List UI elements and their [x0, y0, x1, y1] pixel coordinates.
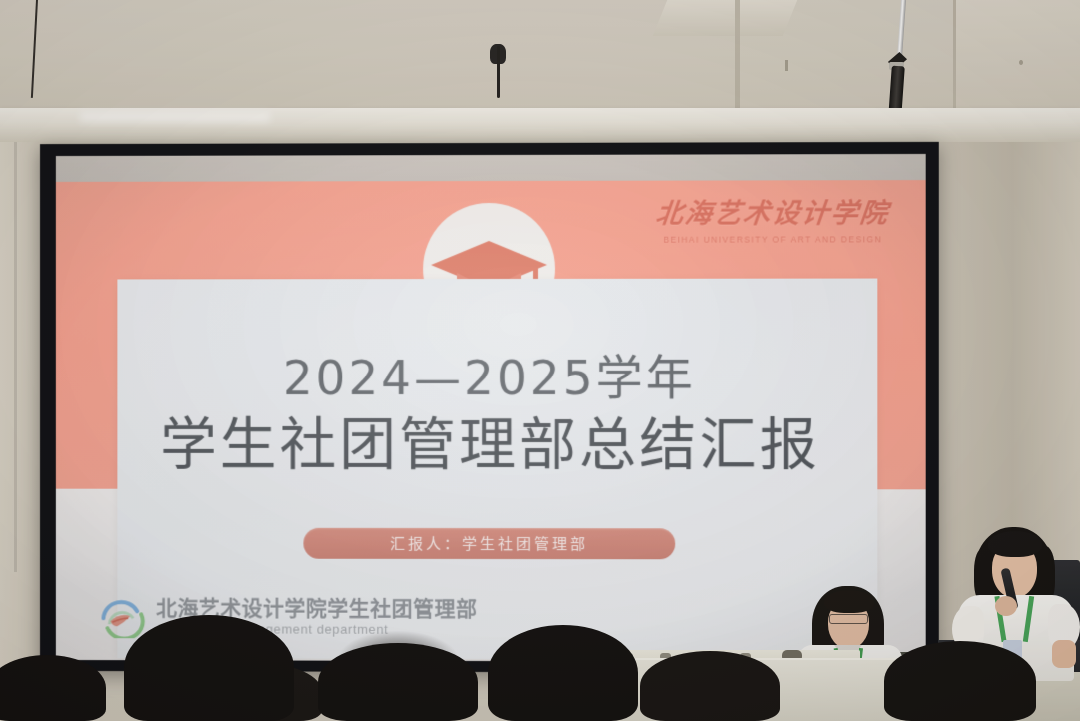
slide-title-line-1: 2024—2025学年 [56, 351, 926, 407]
presentation-slide: 北海艺术设计学院 BEIHAI UNIVERSITY OF ART AND DE… [56, 154, 926, 662]
audience-head [124, 615, 294, 721]
ceiling-beam-edge [735, 0, 740, 122]
audience-head [488, 625, 638, 721]
audience-head [0, 655, 106, 721]
projection-screen: 北海艺术设计学院 BEIHAI UNIVERSITY OF ART AND DE… [40, 142, 939, 673]
presenter-arm-right [1052, 640, 1076, 668]
slide-title-line-2: 学生社团管理部总结汇报 [56, 410, 926, 482]
housing-glare [80, 112, 270, 122]
presenter-pill-text: 汇报人：学生社团管理部 [390, 533, 588, 554]
university-logo: 北海艺术设计学院 BEIHAI UNIVERSITY OF ART AND DE… [638, 191, 907, 254]
slide-title-block: 2024—2025学年 学生社团管理部总结汇报 [56, 351, 926, 482]
audience-head [884, 641, 1036, 721]
university-logo-en: BEIHAI UNIVERSITY OF ART AND DESIGN [638, 234, 907, 244]
audience-head [640, 651, 780, 721]
university-logo-cn: 北海艺术设计学院 [636, 191, 909, 231]
seated-attendee-fringe [824, 590, 874, 613]
swirl-bird-logo-icon [98, 594, 146, 638]
cable-drop-icon [497, 46, 500, 98]
ceiling-beam [653, 0, 798, 36]
glasses-icon [829, 614, 868, 624]
audience-head [318, 643, 478, 721]
left-wall-seam [14, 142, 17, 572]
slide-top-margin [56, 154, 926, 182]
right-wall-panel [955, 0, 1080, 122]
presenter-fringe [988, 531, 1042, 557]
presenter-hand [995, 596, 1017, 616]
lecture-hall-photo: 北海艺术设计学院 BEIHAI UNIVERSITY OF ART AND DE… [0, 0, 1080, 721]
upper-wall [0, 0, 1080, 122]
wall-mark [785, 60, 788, 71]
screen-surface: 北海艺术设计学院 BEIHAI UNIVERSITY OF ART AND DE… [56, 154, 926, 662]
presenter-pill: 汇报人：学生社团管理部 [303, 528, 675, 559]
wall-mark-2 [1019, 60, 1023, 65]
wall-seam [953, 0, 956, 122]
